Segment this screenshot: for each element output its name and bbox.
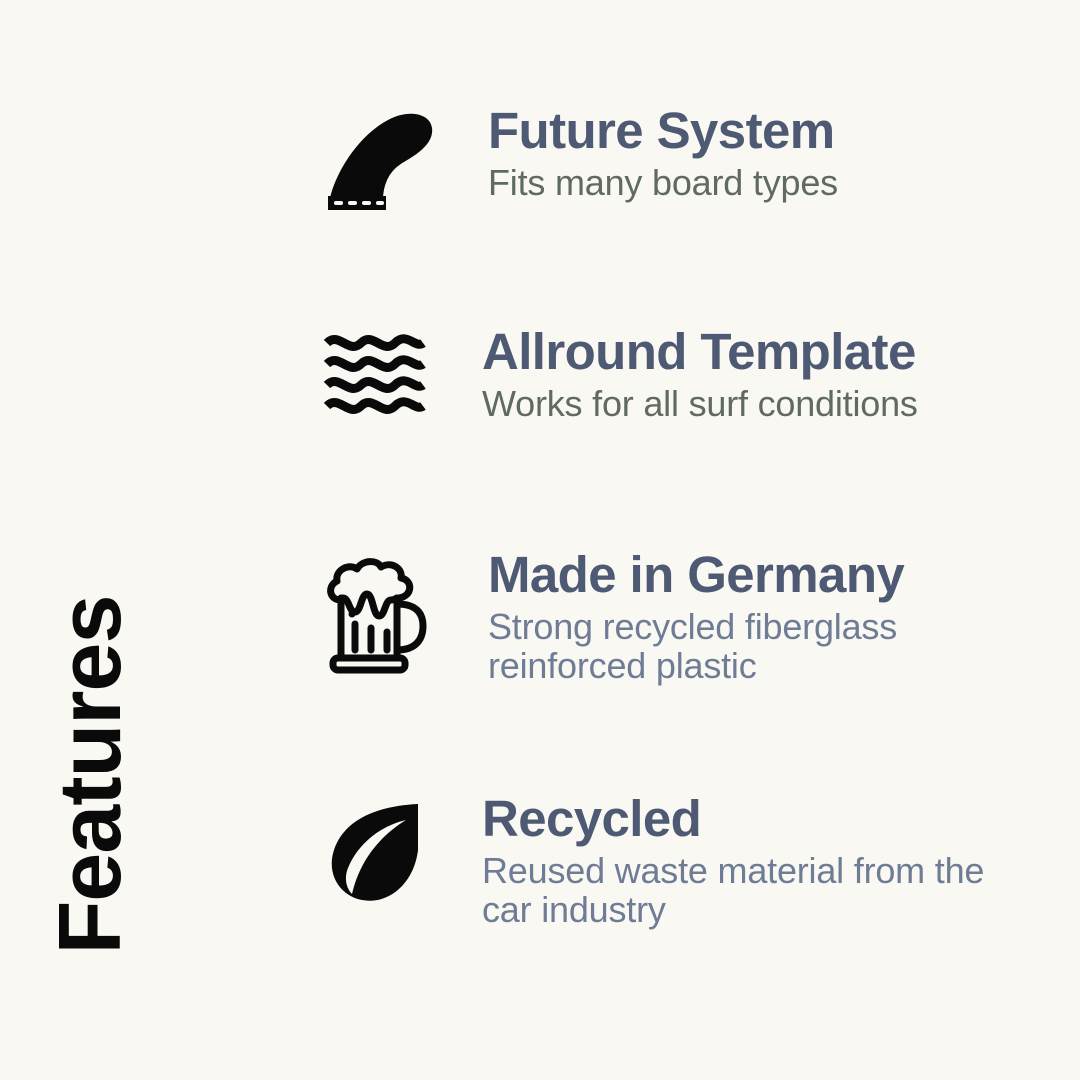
feature-text-block: Made in Germany Strong recycled fibergla… bbox=[488, 548, 1080, 686]
feature-text-block: Recycled Reused waste material from the … bbox=[482, 792, 1080, 930]
feature-title: Future System bbox=[488, 104, 1080, 158]
feature-title: Made in Germany bbox=[488, 548, 1080, 602]
feature-text-block: Future System Fits many board types bbox=[488, 104, 1080, 203]
features-side-label: Features bbox=[0, 0, 180, 1080]
leaf-icon bbox=[300, 792, 450, 906]
features-list: Future System Fits many board types Allr… bbox=[300, 0, 1080, 1080]
feature-title: Allround Template bbox=[482, 325, 1080, 379]
beer-mug-icon bbox=[300, 548, 450, 678]
feature-subtitle: Fits many board types bbox=[488, 164, 1018, 203]
feature-item-allround-template: Allround Template Works for all surf con… bbox=[300, 325, 1080, 424]
feature-title: Recycled bbox=[482, 792, 1080, 846]
feature-item-future-system: Future System Fits many board types bbox=[300, 104, 1080, 214]
feature-text-block: Allround Template Works for all surf con… bbox=[482, 325, 1080, 424]
feature-subtitle: Strong recycled fiberglass reinforced pl… bbox=[488, 608, 1008, 686]
feature-item-made-in-germany: Made in Germany Strong recycled fibergla… bbox=[300, 548, 1080, 686]
feature-subtitle: Reused waste material from the car indus… bbox=[482, 852, 1002, 930]
features-label-text: Features bbox=[46, 596, 134, 955]
surfboard-fin-icon bbox=[300, 104, 450, 214]
waves-icon bbox=[300, 325, 450, 421]
feature-subtitle: Works for all surf conditions bbox=[482, 385, 1012, 424]
feature-item-recycled: Recycled Reused waste material from the … bbox=[300, 792, 1080, 930]
